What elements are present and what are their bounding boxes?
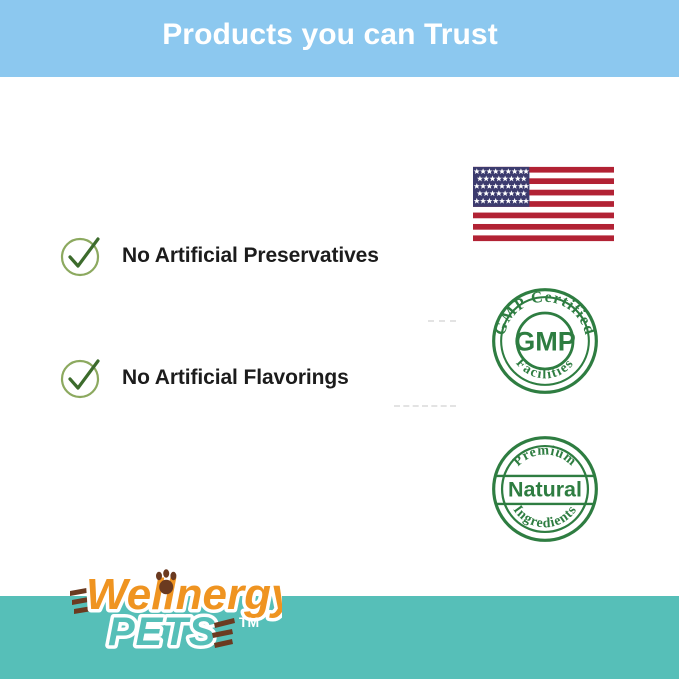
dashed-separator bbox=[428, 320, 456, 324]
natural-top-text: Premium bbox=[511, 443, 580, 469]
feature-label: No Artificial Flavorings bbox=[122, 366, 349, 390]
product-trust-infographic: Products you can Trust No Artificial Pre… bbox=[0, 0, 679, 679]
check-circle-icon bbox=[60, 235, 102, 277]
gmp-certified-seal-icon: GMP Certified Facilities GMP bbox=[489, 285, 601, 397]
wellnergy-pets-logo[interactable]: Wellnergy PETS TM bbox=[62, 561, 282, 657]
logo-word-bottom: PETS bbox=[108, 610, 216, 654]
header-banner: Products you can Trust bbox=[0, 0, 679, 77]
feature-item-no-artificial-preservatives: No Artificial Preservatives bbox=[60, 235, 379, 277]
natural-center-text: Natural bbox=[508, 477, 582, 501]
page-title: Products you can Trust bbox=[0, 18, 660, 52]
feature-label: No Artificial Preservatives bbox=[122, 244, 379, 268]
feature-item-no-artificial-flavorings: No Artificial Flavorings bbox=[60, 357, 349, 399]
premium-natural-ingredients-seal-icon: Premium Ingredients Natural bbox=[489, 433, 601, 545]
natural-bottom-text: Ingredients bbox=[510, 503, 581, 532]
usa-flag-icon bbox=[473, 164, 614, 244]
gmp-center-text: GMP bbox=[514, 326, 576, 356]
logo-trademark: TM bbox=[239, 614, 259, 630]
dashed-separator bbox=[394, 405, 456, 409]
check-circle-icon bbox=[60, 357, 102, 399]
svg-text:Premium: Premium bbox=[511, 443, 580, 469]
svg-text:Ingredients: Ingredients bbox=[510, 503, 581, 532]
